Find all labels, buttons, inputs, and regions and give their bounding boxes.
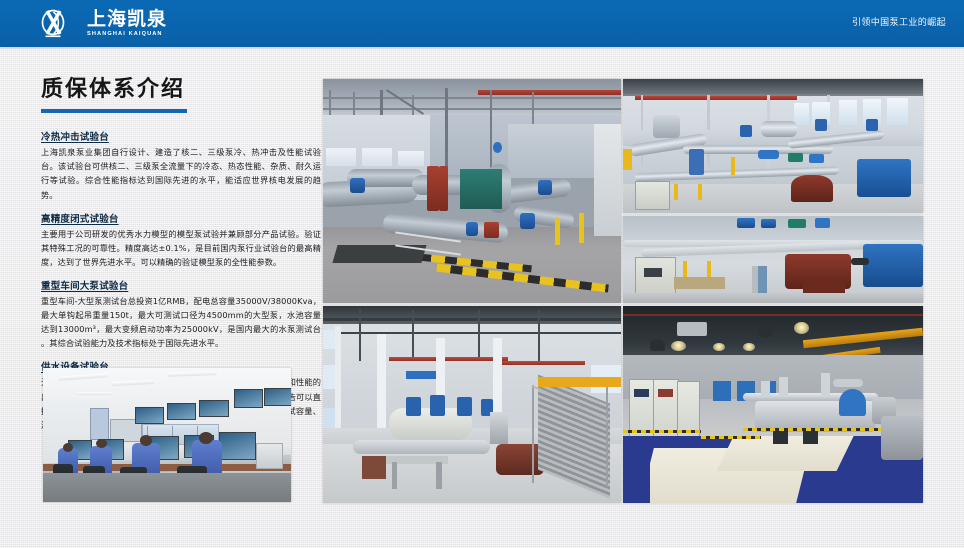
photo-scene — [623, 306, 923, 503]
section-heading: 冷热冲击试验台 — [41, 129, 321, 143]
photo-control-cabinets-pump — [623, 216, 923, 303]
photo-scene — [323, 79, 621, 303]
photo-large-pipe-test-bench — [323, 79, 621, 303]
brand-logo[interactable]: 上海凯泉 SHANGHAI KAIQUAN — [40, 7, 167, 40]
section-item: 冷热冲击试验台 上海凯泉泵业集团自行设计、建造了核二、三级泵冷、热冲击及性能试验… — [41, 129, 321, 201]
title-underline-rule — [41, 109, 187, 113]
photo-bright-pump-test-hall — [623, 79, 923, 213]
photo-blue-floor-test-room — [623, 306, 923, 503]
section-body: 重型车间-大型泵测试台总投资1亿RMB，配电总容量35000V/38000Kva… — [41, 294, 321, 350]
slide-root: 上海凯泉 SHANGHAI KAIQUAN 引领中国泵工业的崛起 质保体系介绍 … — [0, 0, 964, 548]
section-heading: 重型车间大泵试验台 — [41, 278, 321, 292]
photo-control-room-operators — [43, 368, 291, 502]
brand-name-en: SHANGHAI KAIQUAN — [87, 32, 169, 38]
photo-scene — [43, 368, 291, 502]
section-body: 上海凯泉泵业集团自行设计、建造了核二、三级泵冷、热冲击及性能试验台。该试验台可供… — [41, 145, 321, 201]
photo-scene — [323, 306, 621, 503]
section-heading: 高精度闭式试验台 — [41, 211, 321, 225]
photo-scene — [623, 79, 923, 213]
header-slogan: 引领中国泵工业的崛起 — [852, 0, 946, 47]
kaiquan-circle-logo-icon — [40, 8, 80, 40]
photo-pump-workshop-stairs — [323, 306, 621, 503]
photo-scene — [623, 216, 923, 303]
brand-name-cn: 上海凯泉 — [87, 10, 167, 29]
section-item: 重型车间大泵试验台 重型车间-大型泵测试台总投资1亿RMB，配电总容量35000… — [41, 278, 321, 350]
header-bar: 上海凯泉 SHANGHAI KAIQUAN 引领中国泵工业的崛起 — [0, 0, 964, 47]
brand-logo-text: 上海凯泉 SHANGHAI KAIQUAN — [87, 10, 167, 37]
page-title: 质保体系介绍 — [41, 78, 321, 106]
section-item: 高精度闭式试验台 主要用于公司研发的优秀水力模型的模型泵试验并兼顾部分产品试验。… — [41, 211, 321, 269]
section-body: 主要用于公司研发的优秀水力模型的模型泵试验并兼顾部分产品试验。验证其特殊工况的可… — [41, 227, 321, 269]
